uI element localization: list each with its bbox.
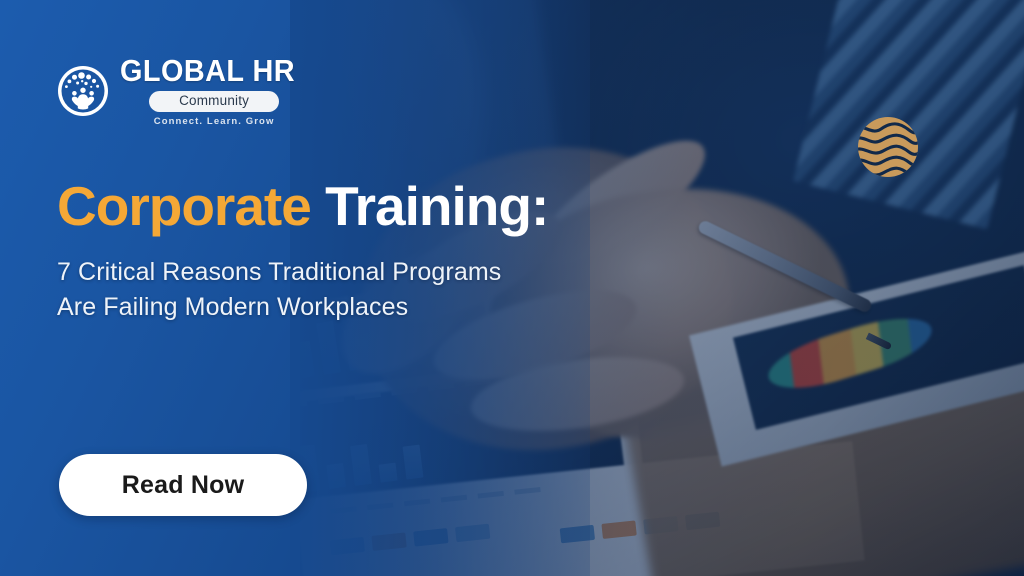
headline-accent: Corporate (57, 175, 311, 237)
brand-logo[interactable]: GLOBAL HR Community Connect. Learn. Grow (57, 55, 308, 127)
wave-globe-icon (857, 116, 919, 178)
community-circle-icon (57, 65, 109, 117)
headline-plain: Training: (325, 175, 548, 237)
brand-tagline: Connect. Learn. Grow (154, 116, 275, 127)
promo-banner: GLOBAL HR Community Connect. Learn. Grow (0, 0, 1024, 576)
page-subtitle: 7 Critical Reasons Traditional Programs … (57, 255, 501, 324)
banner-content: GLOBAL HR Community Connect. Learn. Grow (0, 0, 1024, 576)
brand-pill-label: Community (149, 91, 279, 112)
page-title: Corporate Training: (57, 178, 548, 235)
brand-logo-text: GLOBAL HR Community Connect. Learn. Grow (120, 55, 308, 127)
subtitle-line-2: Are Failing Modern Workplaces (57, 290, 501, 325)
subtitle-line-1: 7 Critical Reasons Traditional Programs (57, 255, 501, 290)
read-now-button[interactable]: Read Now (59, 454, 307, 516)
brand-title: GLOBAL HR (120, 55, 295, 86)
